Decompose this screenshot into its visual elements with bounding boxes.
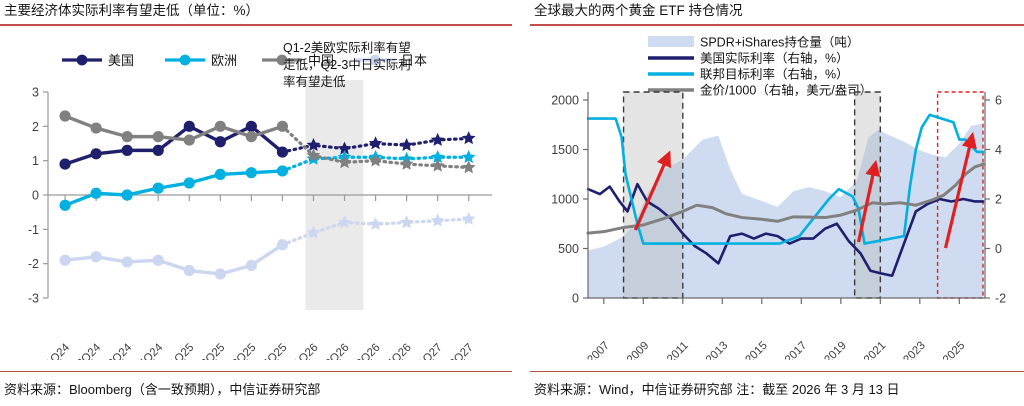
left-panel-title: 主要经济体实际利率有望走低（单位：%） bbox=[0, 0, 512, 20]
x-tick-label-2025: 2025 bbox=[941, 340, 968, 360]
data-point-中国-3Q24 bbox=[122, 131, 133, 142]
data-point-日本-3Q25 bbox=[246, 260, 257, 271]
data-point-日本-1Q24 bbox=[59, 255, 70, 266]
real-rates-chart: 美国欧洲中国日本Q1-2美欧实际利率有望走低，Q2-3中日实际利率有望走低321… bbox=[0, 30, 512, 360]
y-tick-label-1: 1 bbox=[32, 154, 39, 168]
y-left-tick-label-1500: 1500 bbox=[551, 143, 579, 157]
data-point-日本-2Q24 bbox=[91, 251, 102, 262]
forecast-point-美国-4Q26 bbox=[400, 138, 414, 151]
legend-label-right-0: SPDR+iShares持仓量（吨） bbox=[700, 35, 859, 50]
y-right-tick-label--2: -2 bbox=[995, 292, 1006, 306]
data-point-中国-4Q24 bbox=[153, 131, 164, 142]
annotation-line-3: 率有望走低 bbox=[283, 74, 346, 89]
data-point-美国-1Q25 bbox=[184, 121, 195, 132]
data-point-中国-2Q24 bbox=[91, 122, 102, 133]
series-欧洲 bbox=[59, 150, 475, 211]
data-point-欧洲-4Q25 bbox=[277, 165, 288, 176]
data-point-美国-2Q25 bbox=[215, 136, 226, 147]
legend-item-欧洲: 欧洲 bbox=[165, 53, 237, 68]
y-right-tick-label-6: 6 bbox=[995, 94, 1002, 108]
data-point-日本-4Q24 bbox=[153, 255, 164, 266]
y-tick-label-2: 2 bbox=[32, 120, 39, 134]
left-chart-panel: 主要经济体实际利率有望走低（单位：%） 美国欧洲中国日本Q1-2美欧实际利率有望… bbox=[0, 0, 512, 406]
data-point-欧洲-2Q24 bbox=[91, 188, 102, 199]
y-right-tick-label-2: 2 bbox=[995, 193, 1002, 207]
data-point-日本-3Q24 bbox=[122, 256, 133, 267]
x-tick-label-2011: 2011 bbox=[665, 340, 691, 360]
data-point-中国-1Q24 bbox=[59, 110, 70, 121]
y-left-tick-label-500: 500 bbox=[558, 242, 579, 256]
forecast-point-美国-1Q27 bbox=[431, 133, 445, 146]
figure-page: 主要经济体实际利率有望走低（单位：%） 美国欧洲中国日本Q1-2美欧实际利率有望… bbox=[0, 0, 1024, 406]
x-tick-label-2009: 2009 bbox=[625, 340, 652, 360]
forecast-point-日本-2Q27 bbox=[462, 212, 476, 225]
x-tick-label-2Q26: 2Q26 bbox=[323, 342, 351, 360]
left-source-note: 资料来源：Bloomberg（含一致预期），中信证券研究部 bbox=[4, 379, 320, 398]
legend-marker-欧洲 bbox=[180, 55, 191, 66]
x-tick-label-2019: 2019 bbox=[822, 340, 849, 360]
forecast-point-日本-3Q26 bbox=[369, 217, 383, 230]
x-tick-label-2021: 2021 bbox=[862, 340, 889, 360]
legend-marker-美国 bbox=[77, 55, 88, 66]
y-tick-label--1: -1 bbox=[28, 223, 39, 237]
data-point-日本-4Q25 bbox=[277, 239, 288, 250]
x-tick-label-1Q24: 1Q24 bbox=[44, 341, 73, 360]
right-plot-area: SPDR+iShares持仓量（吨）美国实际利率（右轴，%）联邦目标利率（右轴，… bbox=[530, 30, 1024, 360]
data-point-中国-2Q25 bbox=[215, 121, 226, 132]
x-tick-label-2015: 2015 bbox=[743, 340, 770, 360]
legend-item-right-2: 联邦目标利率（右轴，%） bbox=[648, 67, 849, 82]
x-tick-label-2013: 2013 bbox=[704, 340, 731, 360]
data-point-日本-1Q25 bbox=[184, 265, 195, 276]
annotation-line-1: Q1-2美欧实际利率有望 bbox=[283, 40, 411, 55]
x-tick-label-2Q24: 2Q24 bbox=[75, 341, 104, 360]
y-left-tick-label-1000: 1000 bbox=[551, 193, 579, 207]
data-point-欧洲-3Q25 bbox=[246, 167, 257, 178]
legend-label-欧洲: 欧洲 bbox=[211, 53, 237, 68]
y-tick-label-0: 0 bbox=[32, 189, 39, 203]
y-right-tick-label-4: 4 bbox=[995, 143, 1002, 157]
legend-item-美国: 美国 bbox=[62, 53, 134, 68]
data-point-美国-3Q24 bbox=[122, 145, 133, 156]
x-tick-label-1Q27: 1Q27 bbox=[416, 342, 444, 360]
left-plot-area: 美国欧洲中国日本Q1-2美欧实际利率有望走低，Q2-3中日实际利率有望走低321… bbox=[0, 30, 512, 360]
x-tick-label-3Q25: 3Q25 bbox=[230, 342, 258, 360]
x-tick-label-3Q24: 3Q24 bbox=[106, 341, 135, 360]
left-title-divider bbox=[0, 24, 512, 26]
series-日本 bbox=[59, 212, 475, 280]
left-footer-divider bbox=[0, 371, 512, 373]
right-panel-title: 全球最大的两个黄金 ETF 持仓情况 bbox=[530, 0, 1024, 20]
data-point-美国-4Q25 bbox=[277, 146, 288, 157]
x-tick-label-2023: 2023 bbox=[901, 340, 928, 360]
x-tick-label-2007: 2007 bbox=[585, 340, 612, 360]
data-point-美国-3Q25 bbox=[246, 121, 257, 132]
y-left-tick-label-2000: 2000 bbox=[551, 94, 579, 108]
y-tick-label--2: -2 bbox=[28, 257, 39, 271]
forecast-point-美国-3Q26 bbox=[369, 136, 383, 149]
y-right-tick-label-0: 0 bbox=[995, 242, 1002, 256]
x-tick-label-2017: 2017 bbox=[783, 340, 810, 360]
data-point-美国-2Q24 bbox=[91, 148, 102, 159]
data-point-美国-1Q24 bbox=[59, 159, 70, 170]
data-point-欧洲-2Q25 bbox=[215, 169, 226, 180]
forecast-point-中国-1Q27 bbox=[431, 159, 445, 172]
x-tick-label-2Q25: 2Q25 bbox=[199, 342, 227, 360]
legend-label-美国: 美国 bbox=[108, 53, 134, 68]
data-point-欧洲-1Q25 bbox=[184, 177, 195, 188]
right-source-note: 资料来源：Wind，中信证券研究部 注：截至 2026 年 3 月 13 日 bbox=[534, 379, 900, 398]
legend-label-right-2: 联邦目标利率（右轴，%） bbox=[700, 67, 849, 82]
data-point-欧洲-4Q24 bbox=[153, 183, 164, 194]
y-tick-label--3: -3 bbox=[28, 292, 39, 306]
legend-label-right-1: 美国实际利率（右轴，%） bbox=[700, 51, 849, 66]
legend-swatch-area bbox=[648, 36, 694, 47]
x-tick-label-1Q25: 1Q25 bbox=[168, 342, 196, 360]
x-tick-label-4Q26: 4Q26 bbox=[385, 342, 413, 360]
x-tick-label-1Q26: 1Q26 bbox=[292, 342, 320, 360]
right-title-divider bbox=[530, 24, 1024, 26]
data-point-中国-4Q25 bbox=[277, 121, 288, 132]
right-footer-divider bbox=[530, 371, 1024, 373]
data-point-美国-4Q24 bbox=[153, 145, 164, 156]
y-left-tick-label-0: 0 bbox=[572, 292, 579, 306]
data-point-欧洲-1Q24 bbox=[59, 200, 70, 211]
right-chart-panel: 全球最大的两个黄金 ETF 持仓情况 SPDR+iShares持仓量（吨）美国实… bbox=[530, 0, 1024, 406]
legend-item-right-1: 美国实际利率（右轴，%） bbox=[648, 51, 849, 66]
gold-etf-chart: SPDR+iShares持仓量（吨）美国实际利率（右轴，%）联邦目标利率（右轴，… bbox=[530, 30, 1024, 360]
x-tick-label-2Q27: 2Q27 bbox=[447, 342, 475, 360]
x-tick-label-4Q25: 4Q25 bbox=[261, 342, 289, 360]
forecast-point-日本-4Q26 bbox=[400, 215, 414, 228]
data-point-日本-2Q25 bbox=[215, 268, 226, 279]
forecast-point-中国-2Q27 bbox=[462, 160, 476, 173]
x-tick-label-4Q24: 4Q24 bbox=[137, 341, 166, 360]
y-tick-label-3: 3 bbox=[32, 86, 39, 100]
forecast-point-日本-1Q27 bbox=[431, 214, 445, 227]
legend-label-right-3: 金价/1000（右轴，美元/盎司） bbox=[700, 83, 872, 98]
annotation-line-2: 走低，Q2-3中日实际利 bbox=[283, 57, 411, 72]
x-tick-label-3Q26: 3Q26 bbox=[354, 342, 382, 360]
data-point-欧洲-3Q24 bbox=[122, 189, 133, 200]
data-point-中国-1Q25 bbox=[184, 134, 195, 145]
legend-item-right-0: SPDR+iShares持仓量（吨） bbox=[648, 35, 859, 50]
forecast-point-美国-2Q27 bbox=[462, 131, 476, 144]
series-美国 bbox=[59, 121, 475, 170]
data-point-中国-3Q25 bbox=[246, 131, 257, 142]
